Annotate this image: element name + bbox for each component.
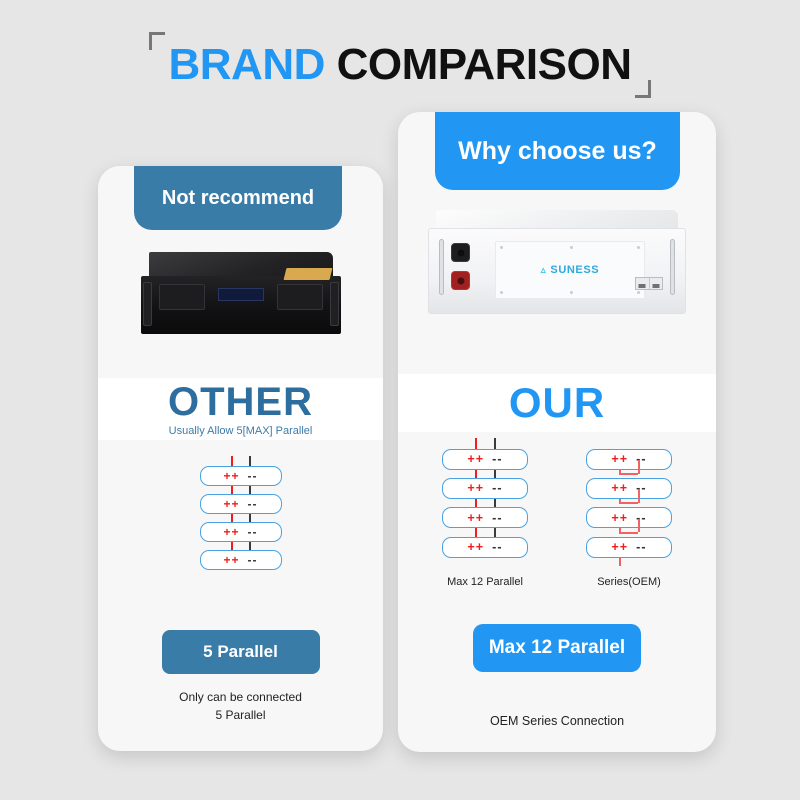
terminal-positive-label: ++ [467,452,484,466]
button-max-12-parallel[interactable]: Max 12 Parallel [473,624,641,672]
terminal-dot [457,277,464,284]
other-footer-line2: 5 Parallel [98,706,383,724]
diagram-series-oem: ++--++--++--++-- Series(OEM) [570,438,688,608]
handle-left [439,239,444,295]
terminal-negative-label: -- [248,553,258,567]
our-heading-band: OUR [398,374,716,432]
screw [570,291,573,294]
battery-cell: ++-- [200,466,282,486]
terminal-positive-label: ++ [467,511,484,525]
battery-front-face [141,276,341,334]
battery-cell: ++-- [586,537,672,558]
screw [637,291,640,294]
terminal-negative-label: -- [248,525,258,539]
other-footer-line1: Only can be connected [98,688,383,706]
connection-wire [619,473,638,475]
diagram-other-parallel: ++--++--++--++-- [98,456,383,586]
battery-cell: ++-- [200,494,282,514]
terminal-positive-label: ++ [223,469,239,483]
connection-wire [638,519,640,533]
terminal-negative-label: -- [636,540,646,554]
button-5-parallel[interactable]: 5 Parallel [162,630,320,674]
connection-wire [475,528,477,536]
terminal-negative-label: -- [492,540,502,554]
connection-wire [231,456,233,466]
lcd-display [218,288,264,301]
terminal-positive-label: ++ [611,481,628,495]
comparison-card-other: Not recommend OTHER Usually Allow 5[MAX]… [98,166,383,751]
diagram-max-12-parallel: ++--++--++--++-- Max 12 Parallel [426,438,544,608]
connection-wire [231,514,233,522]
connection-wire [249,486,251,494]
title-comparison-word: COMPARISON [337,40,632,89]
product-image-other [98,236,383,346]
terminal-positive-label: ++ [467,481,484,495]
terminal-positive-label: ++ [611,452,628,466]
page-header: BRAND COMPARISON [0,34,800,96]
battery-cell: ++-- [442,507,528,528]
other-subheading: Usually Allow 5[MAX] Parallel [169,425,313,437]
other-heading-band: OTHER Usually Allow 5[MAX] Parallel [98,378,383,440]
rack-ear-right [330,282,339,326]
badge-not-recommend: Not recommend [134,166,342,230]
black-battery-illustration [141,252,341,336]
connection-wire [619,558,621,566]
terminal-negative-label: -- [248,497,258,511]
suness-logo: ▵ SUNESS [541,264,599,276]
terminal-block-right [277,284,323,310]
terminal-positive-label: ++ [223,497,239,511]
connection-wire [249,542,251,550]
connection-wire [249,514,251,522]
diagram-our-group: ++--++--++--++-- Max 12 Parallel ++--++-… [398,438,716,608]
connection-wire [475,470,477,478]
front-panel: ▵ SUNESS [495,241,645,299]
battery-front-face: ▵ SUNESS [428,228,686,314]
terminal-positive-label: ++ [611,511,628,525]
connection-wire [619,532,638,534]
connection-wire [231,486,233,494]
screw [500,291,503,294]
bracket-top-left-icon [149,32,165,50]
rj45-ports [635,277,663,290]
other-heading: OTHER [168,382,313,422]
title-brand-word: BRAND [169,40,325,89]
caption-series-oem: Series(OEM) [570,576,688,588]
battery-cell: ++-- [586,507,672,528]
terminal-positive [451,271,470,290]
terminal-negative [451,243,470,262]
battery-cell: ++-- [200,550,282,570]
screw [570,246,573,249]
connection-wire [494,438,496,449]
connection-wire [638,489,640,503]
terminal-positive-label: ++ [611,540,628,554]
battery-cell: ++-- [586,478,672,499]
caption-max-12-parallel: Max 12 Parallel [426,576,544,588]
product-image-our: ▵ SUNESS [398,198,716,338]
terminal-positive-label: ++ [223,525,239,539]
suness-mark-icon: ▵ [541,265,547,276]
connection-wire [231,542,233,550]
connection-wire [249,456,251,466]
white-battery-illustration: ▵ SUNESS [428,210,686,318]
battery-cell: ++-- [442,478,528,499]
suness-wordmark: SUNESS [550,264,599,276]
connection-wire [494,499,496,507]
terminal-negative-label: -- [492,481,502,495]
badge-why-choose-us: Why choose us? [435,112,680,190]
connection-wire [494,528,496,536]
our-footer-note: OEM Series Connection [398,712,716,731]
terminal-negative-label: -- [492,511,502,525]
connection-wire [638,460,640,474]
terminal-negative-label: -- [248,469,258,483]
connection-wire [475,499,477,507]
battery-cell: ++-- [200,522,282,542]
connection-wire [475,438,477,449]
terminal-positive-label: ++ [467,540,484,554]
battery-cell: ++-- [442,449,528,470]
connection-wire [619,502,638,504]
our-heading: OUR [509,382,605,424]
yellow-label [283,268,332,280]
battery-top-face [436,210,678,230]
rack-ear-left [143,282,152,326]
page-title: BRAND COMPARISON [147,34,654,96]
battery-cell: ++-- [586,449,672,470]
terminal-dot [457,249,464,256]
connection-wire [494,470,496,478]
terminal-block-left [159,284,205,310]
screw [637,246,640,249]
battery-cell: ++-- [442,537,528,558]
terminal-negative-label: -- [492,452,502,466]
terminal-positive-label: ++ [223,553,239,567]
screw [500,246,503,249]
handle-right [670,239,675,295]
other-footer-note: Only can be connected 5 Parallel [98,688,383,724]
comparison-card-our: Why choose us? [398,112,716,752]
bracket-bottom-right-icon [635,80,651,98]
